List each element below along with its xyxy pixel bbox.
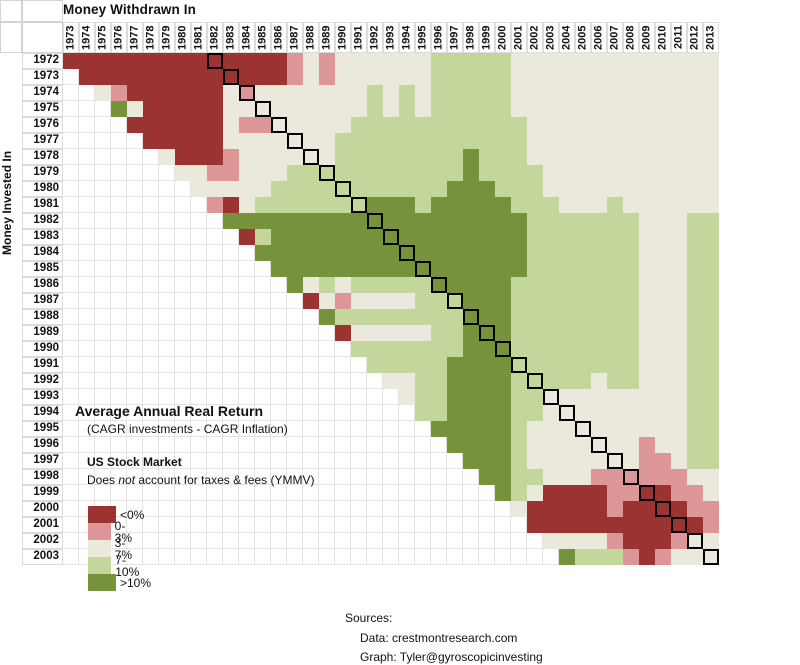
row-header-1993[interactable]: 1993 (22, 389, 63, 405)
heatmap-cell[interactable] (559, 53, 575, 69)
heatmap-cell[interactable] (271, 197, 287, 213)
heatmap-cell[interactable] (655, 117, 671, 133)
heatmap-cell[interactable] (575, 181, 591, 197)
heatmap-cell[interactable] (703, 69, 719, 85)
heatmap-cell[interactable] (575, 357, 591, 373)
heatmap-cell[interactable] (543, 405, 559, 421)
heatmap-cell[interactable] (383, 245, 399, 261)
heatmap-cell[interactable] (671, 341, 687, 357)
heatmap-cell[interactable] (671, 133, 687, 149)
heatmap-cell[interactable] (335, 101, 351, 117)
heatmap-cell[interactable] (671, 213, 687, 229)
column-header-1984[interactable]: 1984 (239, 22, 255, 53)
heatmap-cell[interactable] (431, 373, 447, 389)
heatmap-cell[interactable] (479, 149, 495, 165)
heatmap-cell[interactable] (303, 245, 319, 261)
heatmap-cell[interactable] (639, 69, 655, 85)
heatmap-cell[interactable] (527, 293, 543, 309)
heatmap-cell[interactable] (335, 149, 351, 165)
heatmap-cell[interactable] (207, 149, 223, 165)
heatmap-cell[interactable] (431, 229, 447, 245)
heatmap-cell[interactable] (495, 101, 511, 117)
heatmap-cell[interactable] (207, 181, 223, 197)
heatmap-cell[interactable] (591, 389, 607, 405)
heatmap-cell[interactable] (111, 53, 127, 69)
heatmap-cell[interactable] (479, 69, 495, 85)
heatmap-cell[interactable] (223, 53, 239, 69)
heatmap-cell[interactable] (511, 149, 527, 165)
heatmap-cell[interactable] (255, 53, 271, 69)
column-header-1986[interactable]: 1986 (271, 22, 287, 53)
heatmap-cell[interactable] (671, 405, 687, 421)
heatmap-cell[interactable] (559, 133, 575, 149)
heatmap-cell[interactable] (351, 325, 367, 341)
heatmap-cell[interactable] (383, 213, 399, 229)
heatmap-cell[interactable] (687, 469, 703, 485)
heatmap-cell[interactable] (575, 485, 591, 501)
heatmap-cell[interactable] (415, 245, 431, 261)
heatmap-cell[interactable] (431, 405, 447, 421)
heatmap-cell[interactable] (559, 277, 575, 293)
heatmap-cell[interactable] (591, 421, 607, 437)
heatmap-cell[interactable] (159, 149, 175, 165)
heatmap-cell[interactable] (543, 485, 559, 501)
heatmap-cell[interactable] (191, 85, 207, 101)
heatmap-cell[interactable] (447, 69, 463, 85)
heatmap-cell[interactable] (319, 117, 335, 133)
heatmap-cell[interactable] (559, 101, 575, 117)
heatmap-cell[interactable] (511, 277, 527, 293)
heatmap-cell[interactable] (447, 229, 463, 245)
heatmap-cell[interactable] (463, 357, 479, 373)
heatmap-cell[interactable] (239, 69, 255, 85)
heatmap-cell[interactable] (543, 85, 559, 101)
heatmap-cell[interactable] (671, 181, 687, 197)
heatmap-cell[interactable] (591, 213, 607, 229)
heatmap-cell[interactable] (527, 85, 543, 101)
heatmap-cell[interactable] (495, 309, 511, 325)
heatmap-cell[interactable] (639, 293, 655, 309)
heatmap-cell[interactable] (575, 533, 591, 549)
heatmap-cell[interactable] (703, 197, 719, 213)
heatmap-cell[interactable] (655, 421, 671, 437)
heatmap-cell[interactable] (287, 213, 303, 229)
heatmap-cell[interactable] (495, 245, 511, 261)
row-header-1994[interactable]: 1994 (22, 405, 63, 421)
heatmap-cell[interactable] (399, 149, 415, 165)
heatmap-cell[interactable] (159, 101, 175, 117)
heatmap-cell[interactable] (703, 133, 719, 149)
heatmap-cell[interactable] (639, 117, 655, 133)
column-header-1992[interactable]: 1992 (367, 22, 383, 53)
heatmap-cell[interactable] (687, 405, 703, 421)
column-header-1989[interactable]: 1989 (319, 22, 335, 53)
heatmap-cell[interactable] (479, 389, 495, 405)
heatmap-cell[interactable] (687, 325, 703, 341)
heatmap-cell[interactable] (575, 245, 591, 261)
column-header-2013[interactable]: 2013 (703, 22, 719, 53)
heatmap-cell[interactable] (479, 85, 495, 101)
heatmap-cell[interactable] (271, 261, 287, 277)
heatmap-cell[interactable] (607, 165, 623, 181)
heatmap-cell[interactable] (383, 101, 399, 117)
heatmap-cell[interactable] (351, 117, 367, 133)
row-header-1974[interactable]: 1974 (22, 85, 63, 101)
heatmap-cell[interactable] (527, 421, 543, 437)
heatmap-cell[interactable] (511, 133, 527, 149)
heatmap-cell[interactable] (527, 245, 543, 261)
heatmap-cell[interactable] (287, 197, 303, 213)
heatmap-cell[interactable] (319, 181, 335, 197)
row-header-2003[interactable]: 2003 (22, 549, 63, 565)
heatmap-cell[interactable] (687, 357, 703, 373)
column-header-1975[interactable]: 1975 (95, 22, 111, 53)
heatmap-cell[interactable] (527, 133, 543, 149)
heatmap-cell[interactable] (143, 53, 159, 69)
column-header-1999[interactable]: 1999 (479, 22, 495, 53)
heatmap-cell[interactable] (575, 325, 591, 341)
heatmap-cell[interactable] (639, 229, 655, 245)
heatmap-cell[interactable] (655, 357, 671, 373)
heatmap-cell[interactable] (543, 325, 559, 341)
heatmap-cell[interactable] (543, 133, 559, 149)
heatmap-cell[interactable] (511, 325, 527, 341)
heatmap-cell[interactable] (543, 261, 559, 277)
heatmap-cell[interactable] (175, 53, 191, 69)
heatmap-cell[interactable] (511, 437, 527, 453)
heatmap-cell[interactable] (623, 165, 639, 181)
heatmap-cell[interactable] (463, 229, 479, 245)
heatmap-cell[interactable] (575, 229, 591, 245)
heatmap-cell[interactable] (591, 69, 607, 85)
heatmap-cell[interactable] (255, 117, 271, 133)
heatmap-cell[interactable] (527, 69, 543, 85)
heatmap-cell[interactable] (463, 341, 479, 357)
heatmap-cell[interactable] (367, 309, 383, 325)
heatmap-cell[interactable] (191, 53, 207, 69)
heatmap-cell[interactable] (623, 229, 639, 245)
heatmap-cell[interactable] (63, 53, 79, 69)
heatmap-cell[interactable] (591, 469, 607, 485)
heatmap-cell[interactable] (495, 277, 511, 293)
heatmap-cell[interactable] (703, 261, 719, 277)
heatmap-cell[interactable] (223, 197, 239, 213)
column-header-1974[interactable]: 1974 (79, 22, 95, 53)
heatmap-cell[interactable] (527, 469, 543, 485)
column-header-1991[interactable]: 1991 (351, 22, 367, 53)
heatmap-cell[interactable] (543, 117, 559, 133)
heatmap-cell[interactable] (575, 293, 591, 309)
heatmap-cell[interactable] (415, 133, 431, 149)
heatmap-cell[interactable] (351, 309, 367, 325)
heatmap-cell[interactable] (351, 293, 367, 309)
heatmap-cell[interactable] (687, 421, 703, 437)
heatmap-cell[interactable] (623, 133, 639, 149)
heatmap-cell[interactable] (655, 53, 671, 69)
heatmap-cell[interactable] (143, 133, 159, 149)
heatmap-cell[interactable] (671, 53, 687, 69)
heatmap-cell[interactable] (511, 213, 527, 229)
heatmap-cell[interactable] (559, 309, 575, 325)
heatmap-cell[interactable] (607, 69, 623, 85)
heatmap-cell[interactable] (319, 229, 335, 245)
heatmap-cell[interactable] (383, 69, 399, 85)
heatmap-cell[interactable] (671, 549, 687, 565)
heatmap-cell[interactable] (543, 101, 559, 117)
heatmap-cell[interactable] (575, 341, 591, 357)
heatmap-cell[interactable] (415, 149, 431, 165)
column-header-1990[interactable]: 1990 (335, 22, 351, 53)
heatmap-cell[interactable] (543, 357, 559, 373)
heatmap-cell[interactable] (527, 261, 543, 277)
heatmap-cell[interactable] (607, 53, 623, 69)
heatmap-cell[interactable] (271, 53, 287, 69)
heatmap-cell[interactable] (639, 341, 655, 357)
heatmap-cell[interactable] (351, 341, 367, 357)
heatmap-cell[interactable] (175, 165, 191, 181)
heatmap-cell[interactable] (447, 101, 463, 117)
heatmap-cell[interactable] (639, 357, 655, 373)
heatmap-cell[interactable] (607, 357, 623, 373)
heatmap-cell[interactable] (463, 325, 479, 341)
heatmap-cell[interactable] (671, 485, 687, 501)
heatmap-cell[interactable] (623, 197, 639, 213)
heatmap-cell[interactable] (351, 133, 367, 149)
heatmap-cell[interactable] (303, 213, 319, 229)
heatmap-cell[interactable] (511, 421, 527, 437)
heatmap-cell[interactable] (575, 213, 591, 229)
row-header-1978[interactable]: 1978 (22, 149, 63, 165)
heatmap-cell[interactable] (591, 117, 607, 133)
heatmap-cell[interactable] (591, 133, 607, 149)
heatmap-cell[interactable] (623, 533, 639, 549)
heatmap-cell[interactable] (479, 421, 495, 437)
heatmap-cell[interactable] (607, 133, 623, 149)
heatmap-cell[interactable] (639, 133, 655, 149)
heatmap-cell[interactable] (367, 261, 383, 277)
heatmap-cell[interactable] (623, 485, 639, 501)
column-header-2002[interactable]: 2002 (527, 22, 543, 53)
heatmap-cell[interactable] (415, 373, 431, 389)
heatmap-cell[interactable] (607, 277, 623, 293)
heatmap-cell[interactable] (399, 261, 415, 277)
heatmap-cell[interactable] (191, 165, 207, 181)
heatmap-cell[interactable] (703, 453, 719, 469)
heatmap-cell[interactable] (479, 405, 495, 421)
heatmap-cell[interactable] (319, 133, 335, 149)
heatmap-cell[interactable] (655, 373, 671, 389)
row-header-2000[interactable]: 2000 (22, 501, 63, 517)
heatmap-cell[interactable] (319, 245, 335, 261)
heatmap-cell[interactable] (271, 69, 287, 85)
heatmap-cell[interactable] (543, 53, 559, 69)
heatmap-cell[interactable] (239, 133, 255, 149)
heatmap-cell[interactable] (287, 117, 303, 133)
heatmap-cell[interactable] (575, 389, 591, 405)
heatmap-cell[interactable] (255, 85, 271, 101)
heatmap-cell[interactable] (431, 101, 447, 117)
heatmap-cell[interactable] (543, 69, 559, 85)
heatmap-cell[interactable] (239, 165, 255, 181)
heatmap-cell[interactable] (623, 181, 639, 197)
heatmap-cell[interactable] (495, 213, 511, 229)
heatmap-cell[interactable] (623, 341, 639, 357)
heatmap-cell[interactable] (559, 245, 575, 261)
heatmap-cell[interactable] (335, 133, 351, 149)
heatmap-cell[interactable] (575, 133, 591, 149)
heatmap-cell[interactable] (591, 197, 607, 213)
heatmap-cell[interactable] (367, 181, 383, 197)
heatmap-cell[interactable] (479, 261, 495, 277)
heatmap-cell[interactable] (671, 229, 687, 245)
heatmap-cell[interactable] (447, 309, 463, 325)
heatmap-cell[interactable] (623, 517, 639, 533)
heatmap-cell[interactable] (543, 293, 559, 309)
heatmap-cell[interactable] (367, 165, 383, 181)
heatmap-cell[interactable] (671, 357, 687, 373)
heatmap-cell[interactable] (431, 149, 447, 165)
heatmap-cell[interactable] (495, 149, 511, 165)
heatmap-cell[interactable] (671, 277, 687, 293)
heatmap-cell[interactable] (351, 181, 367, 197)
heatmap-cell[interactable] (431, 69, 447, 85)
heatmap-cell[interactable] (495, 421, 511, 437)
heatmap-cell[interactable] (671, 389, 687, 405)
heatmap-cell[interactable] (479, 213, 495, 229)
heatmap-cell[interactable] (687, 453, 703, 469)
heatmap-cell[interactable] (367, 277, 383, 293)
heatmap-cell[interactable] (383, 341, 399, 357)
heatmap-cell[interactable] (703, 213, 719, 229)
heatmap-cell[interactable] (431, 85, 447, 101)
heatmap-cell[interactable] (303, 181, 319, 197)
heatmap-cell[interactable] (191, 69, 207, 85)
heatmap-cell[interactable] (671, 149, 687, 165)
heatmap-cell[interactable] (463, 213, 479, 229)
heatmap-cell[interactable] (511, 101, 527, 117)
heatmap-cell[interactable] (223, 165, 239, 181)
row-header-1979[interactable]: 1979 (22, 165, 63, 181)
heatmap-cell[interactable] (319, 101, 335, 117)
heatmap-cell[interactable] (447, 133, 463, 149)
heatmap-cell[interactable] (607, 325, 623, 341)
heatmap-cell[interactable] (223, 149, 239, 165)
heatmap-cell[interactable] (543, 421, 559, 437)
heatmap-cell[interactable] (239, 53, 255, 69)
heatmap-cell[interactable] (287, 85, 303, 101)
heatmap-cell[interactable] (655, 213, 671, 229)
heatmap-cell[interactable] (703, 165, 719, 181)
heatmap-cell[interactable] (687, 85, 703, 101)
heatmap-cell[interactable] (559, 453, 575, 469)
heatmap-cell[interactable] (511, 485, 527, 501)
column-header-1979[interactable]: 1979 (159, 22, 175, 53)
heatmap-cell[interactable] (319, 277, 335, 293)
heatmap-cell[interactable] (479, 277, 495, 293)
heatmap-cell[interactable] (527, 53, 543, 69)
heatmap-cell[interactable] (671, 325, 687, 341)
heatmap-cell[interactable] (431, 325, 447, 341)
heatmap-cell[interactable] (415, 277, 431, 293)
heatmap-cell[interactable] (495, 357, 511, 373)
heatmap-cell[interactable] (303, 229, 319, 245)
heatmap-cell[interactable] (127, 53, 143, 69)
heatmap-cell[interactable] (399, 341, 415, 357)
heatmap-cell[interactable] (655, 85, 671, 101)
heatmap-cell[interactable] (447, 261, 463, 277)
column-header-2008[interactable]: 2008 (623, 22, 639, 53)
heatmap-cell[interactable] (623, 101, 639, 117)
heatmap-cell[interactable] (559, 293, 575, 309)
row-header-1975[interactable]: 1975 (22, 101, 63, 117)
heatmap-cell[interactable] (687, 149, 703, 165)
heatmap-cell[interactable] (623, 421, 639, 437)
heatmap-cell[interactable] (639, 149, 655, 165)
heatmap-cell[interactable] (703, 389, 719, 405)
heatmap-cell[interactable] (319, 213, 335, 229)
heatmap-cell[interactable] (367, 325, 383, 341)
heatmap-cell[interactable] (351, 165, 367, 181)
heatmap-cell[interactable] (431, 357, 447, 373)
heatmap-cell[interactable] (623, 293, 639, 309)
heatmap-cell[interactable] (511, 373, 527, 389)
heatmap-cell[interactable] (543, 373, 559, 389)
heatmap-cell[interactable] (527, 181, 543, 197)
heatmap-cell[interactable] (607, 533, 623, 549)
heatmap-cell[interactable] (607, 197, 623, 213)
heatmap-cell[interactable] (607, 437, 623, 453)
heatmap-cell[interactable] (287, 277, 303, 293)
heatmap-cell[interactable] (479, 469, 495, 485)
heatmap-cell[interactable] (671, 197, 687, 213)
heatmap-cell[interactable] (127, 69, 143, 85)
heatmap-cell[interactable] (591, 277, 607, 293)
heatmap-cell[interactable] (639, 277, 655, 293)
heatmap-cell[interactable] (511, 469, 527, 485)
row-header-1996[interactable]: 1996 (22, 437, 63, 453)
heatmap-cell[interactable] (639, 165, 655, 181)
heatmap-cell[interactable] (431, 53, 447, 69)
heatmap-cell[interactable] (655, 453, 671, 469)
heatmap-cell[interactable] (111, 69, 127, 85)
heatmap-cell[interactable] (703, 277, 719, 293)
heatmap-cell[interactable] (495, 261, 511, 277)
heatmap-cell[interactable] (383, 149, 399, 165)
heatmap-cell[interactable] (399, 293, 415, 309)
heatmap-cell[interactable] (239, 213, 255, 229)
heatmap-cell[interactable] (223, 181, 239, 197)
heatmap-cell[interactable] (655, 69, 671, 85)
heatmap-cell[interactable] (543, 501, 559, 517)
heatmap-cell[interactable] (431, 293, 447, 309)
column-header-1973[interactable]: 1973 (63, 22, 79, 53)
heatmap-cell[interactable] (703, 357, 719, 373)
heatmap-cell[interactable] (303, 101, 319, 117)
heatmap-cell[interactable] (607, 85, 623, 101)
row-header-1980[interactable]: 1980 (22, 181, 63, 197)
heatmap-cell[interactable] (527, 165, 543, 181)
heatmap-cell[interactable] (431, 213, 447, 229)
heatmap-cell[interactable] (639, 533, 655, 549)
heatmap-cell[interactable] (415, 165, 431, 181)
column-header-2009[interactable]: 2009 (639, 22, 655, 53)
heatmap-cell[interactable] (671, 501, 687, 517)
heatmap-cell[interactable] (527, 101, 543, 117)
heatmap-cell[interactable] (511, 453, 527, 469)
heatmap-cell[interactable] (287, 69, 303, 85)
heatmap-cell[interactable] (607, 101, 623, 117)
heatmap-cell[interactable] (431, 261, 447, 277)
